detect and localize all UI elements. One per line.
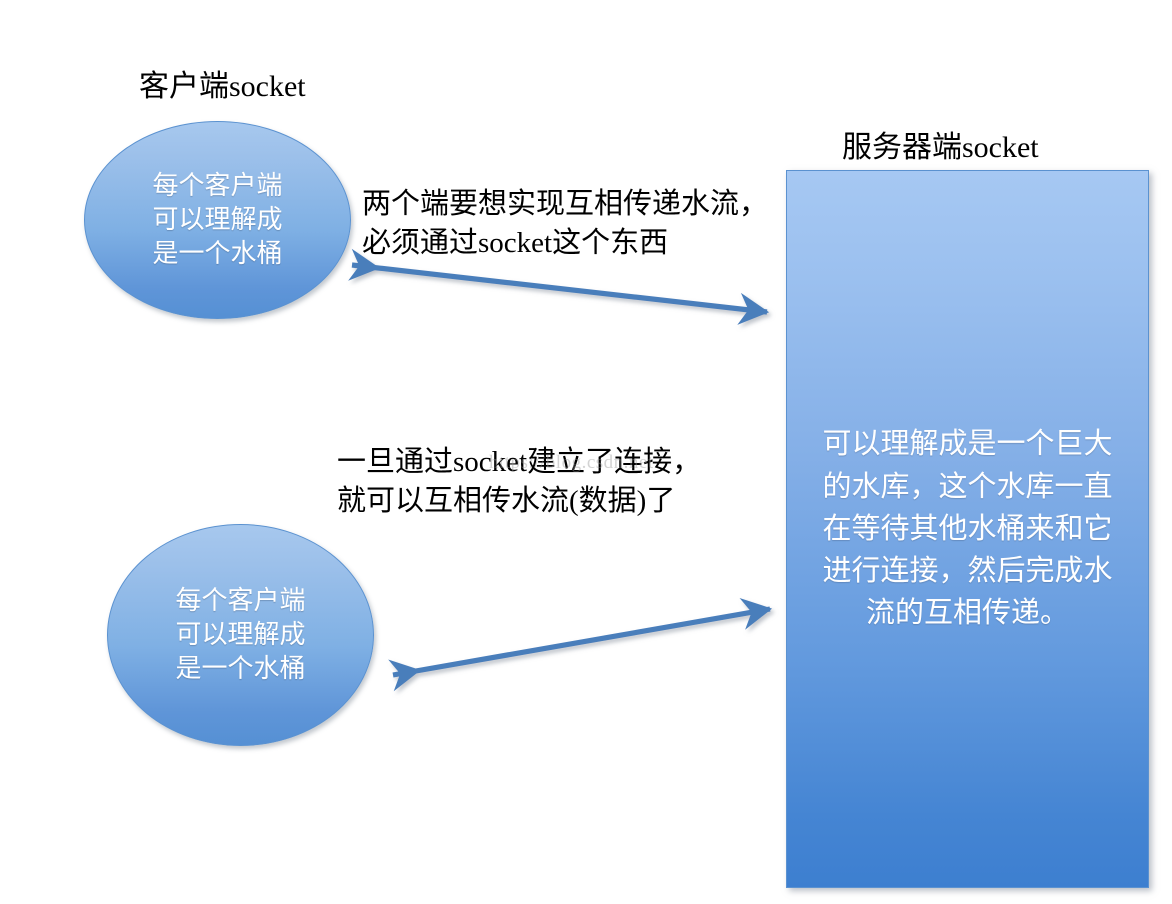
client-bucket-label-bottom: 每个客户端 可以理解成 是一个水桶 bbox=[175, 584, 305, 687]
server-reservoir-shape: 可以理解成是一个巨大的水库，这个水库一直在等待其他水桶来和它进行连接，然后完成水… bbox=[786, 170, 1149, 888]
client-bucket-shape-bottom: 每个客户端 可以理解成 是一个水桶 bbox=[107, 524, 374, 746]
client-bucket-label-top: 每个客户端 可以理解成 是一个水桶 bbox=[152, 169, 282, 272]
annotation-socket-required: 两个端要想实现互相传递水流， 必须通过socket这个东西 bbox=[362, 185, 768, 262]
client-socket-title: 客户端socket bbox=[139, 70, 306, 103]
client-bucket-shape-top: 每个客户端 可以理解成 是一个水桶 bbox=[84, 121, 351, 319]
server-reservoir-label: 可以理解成是一个巨大的水库，这个水库一直在等待其他水桶来和它进行连接，然后完成水… bbox=[818, 423, 1118, 635]
source-watermark: https://blog.csdn.net bbox=[489, 452, 654, 474]
arrow-client-bottom-to-server bbox=[393, 609, 770, 675]
server-socket-title: 服务器端socket bbox=[842, 131, 1039, 164]
arrow-client-top-to-server bbox=[352, 265, 767, 312]
diagram-canvas: 客户端socket 服务器端socket 每个客户端 可以理解成 是一个水桶 每… bbox=[0, 0, 1172, 904]
